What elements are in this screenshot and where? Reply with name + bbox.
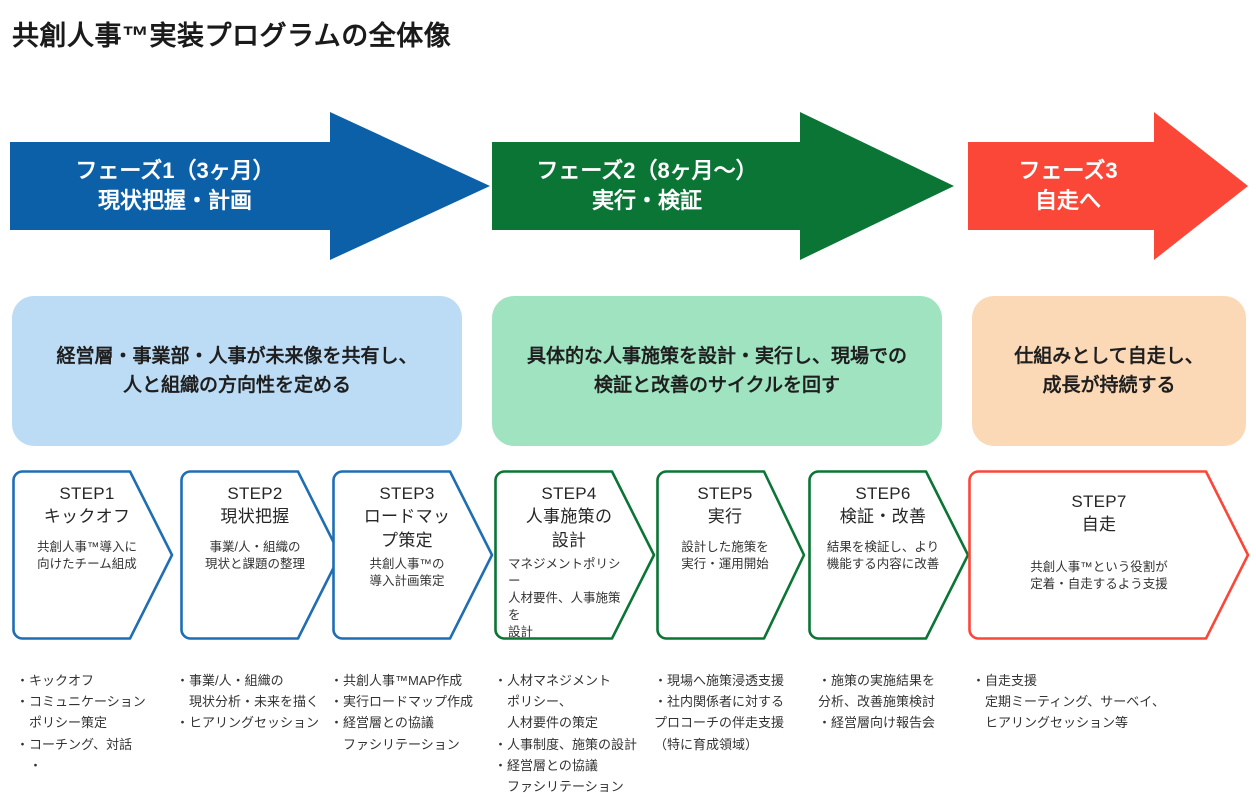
summary-box-phase3-text: 仕組みとして自走し、 成長が持続する: [1014, 342, 1203, 401]
step-card-6-title: STEP6 検証・改善: [840, 482, 927, 529]
summary-box-phase1: 経営層・事業部・人事が未来像を共有し、 人と組織の方向性を定める: [12, 296, 462, 446]
summary-box-phase2-text: 具体的な人事施策を設計・実行し、現場での 検証と改善のサイクルを回す: [527, 342, 907, 401]
bullet-list-step3: ・共創人事™MAP作成 ・実行ロードマップ作成 ・経営層との協議 ファシリテーシ…: [330, 670, 495, 755]
page-title: 共創人事™実装プログラムの全体像: [12, 14, 451, 53]
step-card-5[interactable]: STEP5 実行 設計した施策を 実行・運用開始: [656, 470, 806, 640]
step-card-1-title: STEP1 キックオフ: [44, 482, 131, 529]
step-card-4-title: STEP4 人事施策の 設計: [526, 482, 613, 552]
step-card-6[interactable]: STEP6 検証・改善 結果を検証し、より 機能する内容に改善: [808, 470, 970, 640]
summary-box-phase3: 仕組みとして自走し、 成長が持続する: [972, 296, 1246, 446]
step-card-2-title: STEP2 現状把握: [220, 482, 289, 529]
step-card-7[interactable]: STEP7 自走 共創人事™という役割が 定着・自走するよう支援: [968, 470, 1250, 640]
step-card-4[interactable]: STEP4 人事施策の 設計 マネジメントポリシー 人材要件、人事施策を 設計: [494, 470, 656, 640]
phase-arrow-3: フェーズ3 自走へ: [968, 112, 1248, 260]
bullet-list-step4: ・人材マネジメント ポリシー、 人材要件の策定 ・人事制度、施策の設計 ・経営層…: [494, 670, 654, 797]
bullet-list-step5: ・現場へ施策浸透支援 ・社内関係者に対する プロコーチの伴走支援 （特に育成領域…: [654, 670, 819, 755]
summary-box-phase1-text: 経営層・事業部・人事が未来像を共有し、 人と組織の方向性を定める: [56, 342, 417, 401]
step-card-6-desc: 結果を検証し、より 機能する内容に改善: [822, 539, 944, 573]
step-card-3-desc: 共創人事™の 導入計画策定: [346, 556, 468, 590]
step-card-5-title: STEP5 実行: [697, 482, 752, 529]
step-card-2[interactable]: STEP2 現状把握 事業/人・組織の 現状と課題の整理: [180, 470, 342, 640]
phase-arrow-2: フェーズ2（8ヶ月〜） 実行・検証: [492, 112, 954, 260]
bullet-list-step1: ・キックオフ ・コミュニケーション ポリシー策定 ・コーチング、対話 ・: [16, 670, 176, 776]
step-card-3[interactable]: STEP3 ロードマッ プ策定 共創人事™の 導入計画策定: [332, 470, 494, 640]
step-card-4-desc: マネジメントポリシー 人材要件、人事施策を 設計: [508, 556, 630, 640]
step-card-1[interactable]: STEP1 キックオフ 共創人事™導入に 向けたチーム組成: [12, 470, 174, 640]
bullet-list-step7: ・自走支援 定期ミーティング、サーベイ、 ヒアリングセッション等: [972, 670, 1192, 734]
summary-box-phase2: 具体的な人事施策を設計・実行し、現場での 検証と改善のサイクルを回す: [492, 296, 942, 446]
step-card-1-desc: 共創人事™導入に 向けたチーム組成: [26, 539, 148, 573]
arrow-shape-icon: [968, 112, 1248, 260]
arrow-shape-icon: [492, 112, 954, 260]
arrow-shape-icon: [10, 112, 490, 260]
step-card-5-desc: 設計した施策を 実行・運用開始: [670, 539, 780, 573]
step-card-7-desc: 共創人事™という役割が 定着・自走するよう支援: [1008, 559, 1190, 593]
step-card-2-desc: 事業/人・組織の 現状と課題の整理: [194, 539, 316, 573]
step-card-7-title: STEP7 自走: [1071, 490, 1126, 537]
step-card-3-title: STEP3 ロードマッ プ策定: [364, 482, 451, 552]
phase-arrow-1: フェーズ1（3ヶ月） 現状把握・計画: [10, 112, 490, 260]
bullet-list-step6: ・施策の実施結果を 分析、改善施策検討 ・経営層向け報告会: [818, 670, 978, 734]
bullet-list-step2: ・事業/人・組織の 現状分析・未来を描く ・ヒアリングセッション: [176, 670, 336, 734]
